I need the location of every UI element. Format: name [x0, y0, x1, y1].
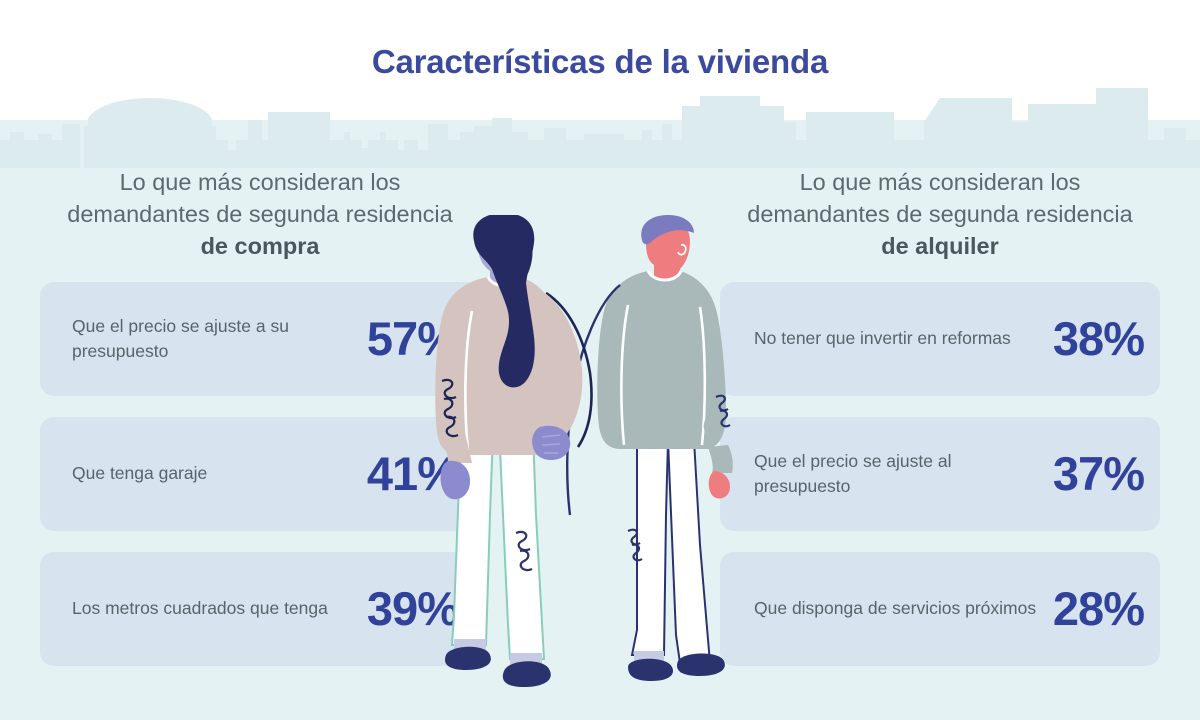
stat-card[interactable]: Que tenga garaje 41% [40, 417, 480, 531]
page-title: Características de la vivienda [0, 43, 1200, 81]
column-compra: Lo que más consideran los demandantes de… [40, 166, 480, 687]
stat-card-label: Que disponga de servicios próximos [754, 596, 1053, 621]
stat-card-label: Que el precio se ajuste a su presupuesto [72, 314, 367, 364]
column-alquiler: Lo que más consideran los demandantes de… [720, 166, 1160, 687]
column-compra-heading: Lo que más consideran los demandantes de… [40, 166, 480, 263]
two-people-illustration [432, 215, 782, 720]
column-alquiler-heading: Lo que más consideran los demandantes de… [720, 166, 1160, 263]
stat-card-value: 38% [1053, 311, 1144, 366]
stat-card-label: No tener que invertir en reformas [754, 326, 1053, 351]
stat-card-value: 37% [1053, 446, 1144, 501]
stat-card-label: Los metros cuadrados que tenga [72, 596, 367, 621]
stat-card[interactable]: Que el precio se ajuste a su presupuesto… [40, 282, 480, 396]
stat-card[interactable]: Que el precio se ajuste al presupuesto 3… [720, 417, 1160, 531]
column-alquiler-heading-strong: de alquiler [881, 233, 999, 259]
column-alquiler-cards: No tener que invertir en reformas 38% Qu… [720, 282, 1160, 666]
stat-card-label: Que tenga garaje [72, 461, 367, 486]
stat-card-value: 28% [1053, 581, 1144, 636]
column-alquiler-heading-plain: Lo que más consideran los demandantes de… [747, 169, 1132, 227]
stat-card[interactable]: No tener que invertir en reformas 38% [720, 282, 1160, 396]
column-compra-heading-plain: Lo que más consideran los demandantes de… [67, 169, 452, 227]
infographic-canvas: Características de la vivienda Lo que má… [0, 0, 1200, 720]
woman-figure [435, 215, 591, 687]
stat-card-label: Que el precio se ajuste al presupuesto [754, 449, 1053, 499]
man-figure [567, 215, 733, 681]
column-compra-heading-strong: de compra [201, 233, 320, 259]
stat-card[interactable]: Que disponga de servicios próximos 28% [720, 552, 1160, 666]
stat-card[interactable]: Los metros cuadrados que tenga 39% [40, 552, 480, 666]
city-skyline-icon [0, 88, 1200, 168]
column-compra-cards: Que el precio se ajuste a su presupuesto… [40, 282, 480, 666]
